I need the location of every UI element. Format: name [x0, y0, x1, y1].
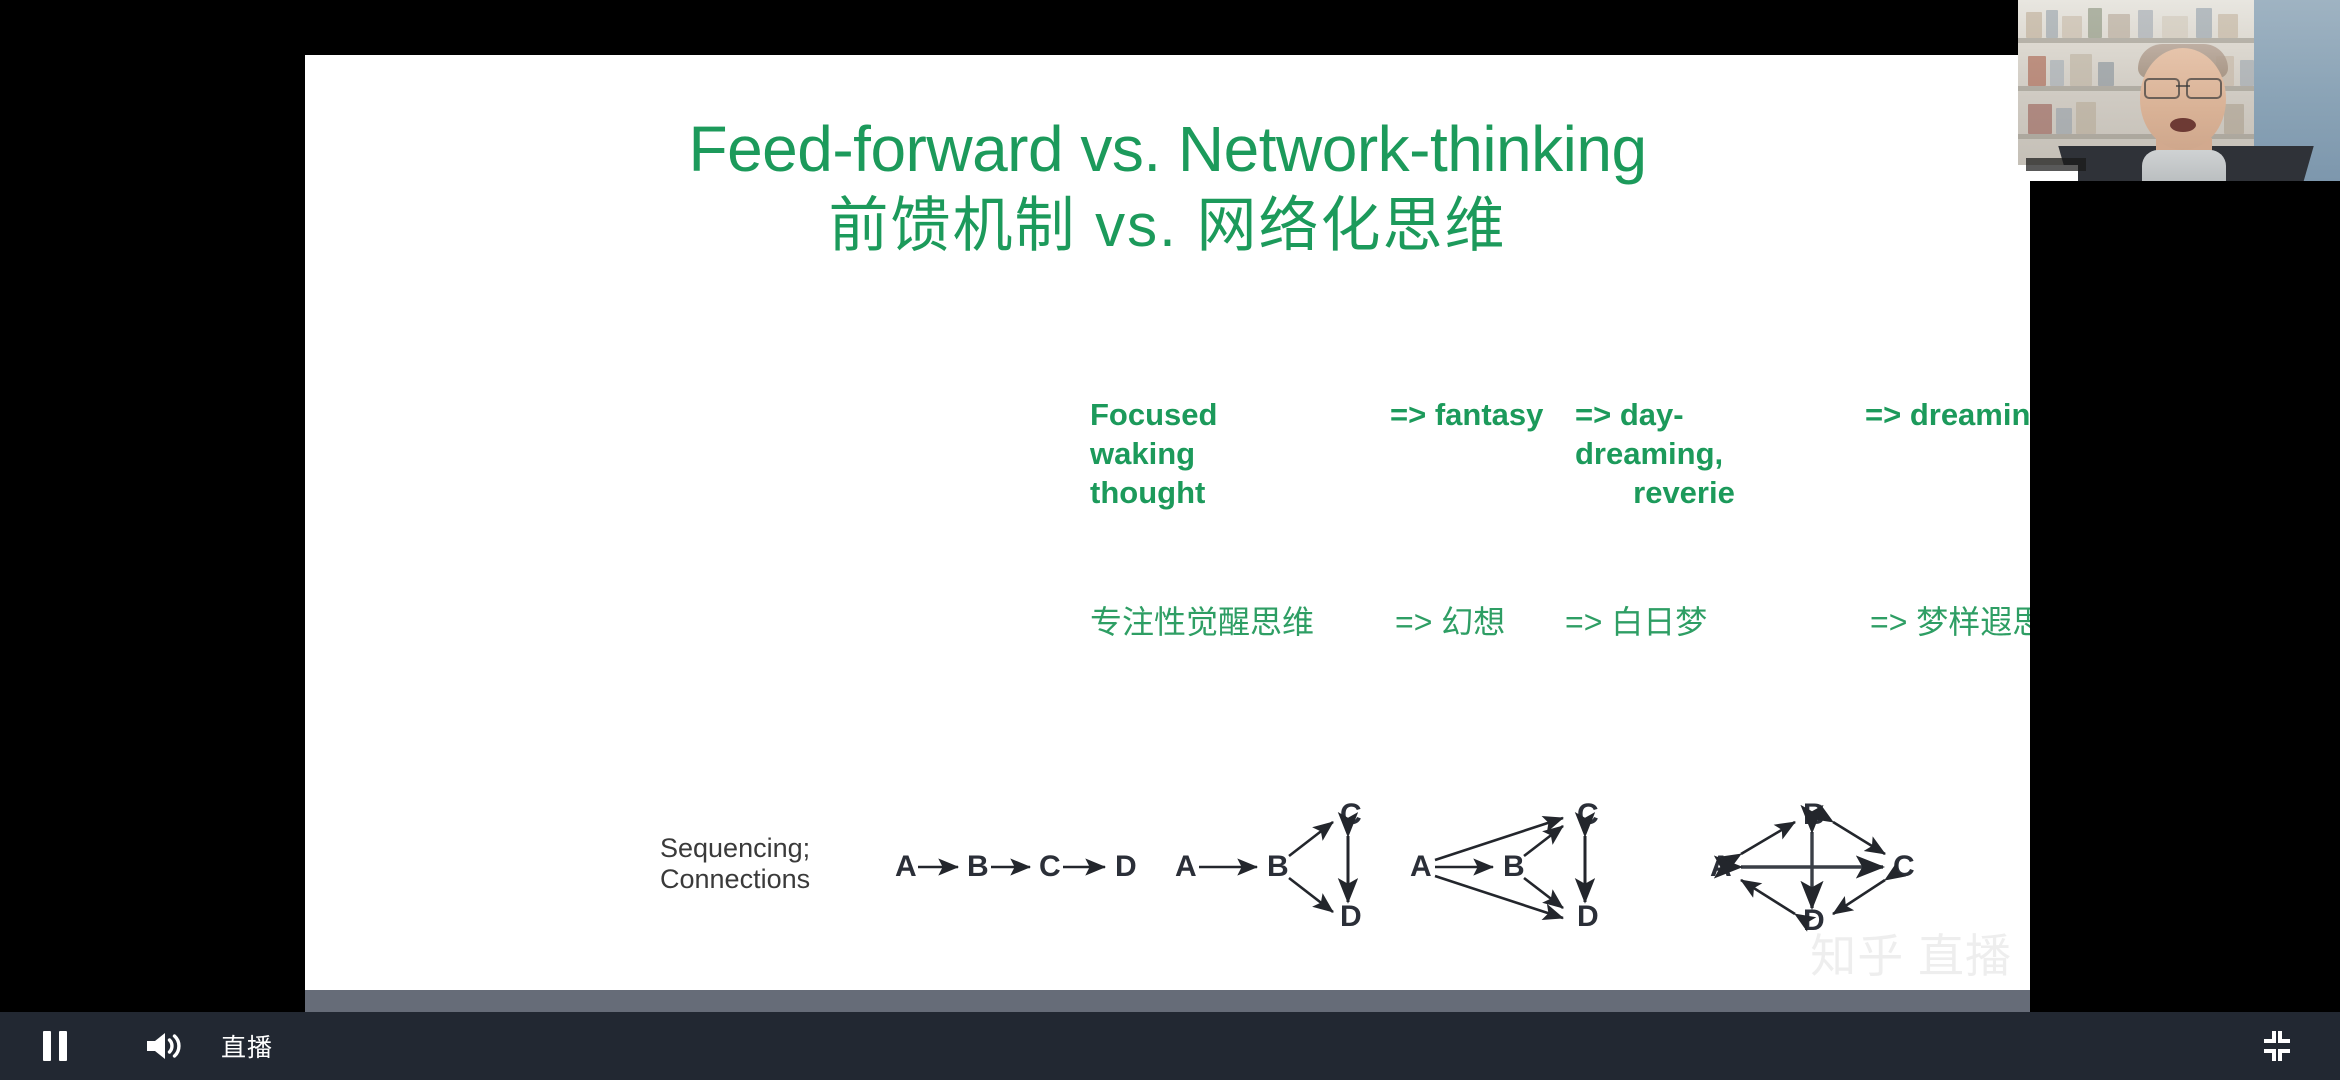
english-stage-3-line1: => day-dreaming,	[1575, 397, 1723, 471]
diagram-panel-branching: A B C D	[1175, 800, 1362, 933]
english-stage-3: => day-dreaming, reverie	[1575, 395, 1815, 512]
exit-fullscreen-button[interactable]	[2258, 1027, 2296, 1065]
presenter-turtleneck	[2142, 150, 2226, 181]
node-A: A	[895, 850, 917, 883]
chinese-stage-3: => 白日梦	[1565, 600, 1707, 644]
presenter-head	[2140, 48, 2226, 150]
seek-bar[interactable]	[305, 990, 2030, 1012]
node-B: B	[967, 850, 989, 883]
english-stage-2: => fantasy	[1390, 395, 1543, 434]
presentation-slide: Feed-forward vs. Network-thinking 前馈机制 v…	[305, 55, 2030, 990]
volume-button[interactable]	[141, 1025, 183, 1067]
slide-title-block: Feed-forward vs. Network-thinking 前馈机制 v…	[305, 110, 2030, 264]
node-B: B	[1503, 850, 1525, 883]
presenter-webcam-overlay[interactable]	[2018, 0, 2340, 181]
node-A: A	[1175, 850, 1197, 883]
chinese-progression-row: 专注性觉醒思维 => 幻想 => 白日梦 => 梦样遐思	[775, 600, 2025, 656]
node-C: C	[1340, 800, 1362, 831]
node-A: A	[1710, 850, 1732, 883]
live-status-label[interactable]: 直播	[221, 1028, 273, 1064]
diagram-svg: A B C D A B C D	[455, 800, 2015, 970]
node-D: D	[1115, 850, 1137, 883]
diagram-panel-partial-network: A B C D	[1410, 800, 1599, 933]
exit-fullscreen-icon	[2258, 1027, 2296, 1065]
node-A: A	[1410, 850, 1432, 883]
node-C: C	[1893, 850, 1915, 883]
slide-title-english: Feed-forward vs. Network-thinking	[305, 110, 2030, 188]
video-player-stage: Feed-forward vs. Network-thinking 前馈机制 v…	[0, 0, 2340, 1080]
network-diagram-figure: Sequencing; Connections A B C	[455, 800, 2015, 970]
chinese-stage-2: => 幻想	[1395, 600, 1505, 644]
presenter-glasses	[2144, 78, 2222, 95]
node-B: B	[1267, 850, 1289, 883]
chinese-stage-1: 专注性觉醒思维	[1090, 600, 1314, 644]
english-stage-3-line2: reverie	[1575, 473, 1793, 512]
english-stage-4: => dreaming	[1865, 395, 2030, 434]
webcam-name-bar	[2026, 158, 2086, 171]
pause-icon-bar-2	[59, 1031, 67, 1061]
node-C: C	[1039, 850, 1061, 883]
node-D: D	[1340, 900, 1362, 933]
player-controls-bar: 直播	[0, 1012, 2340, 1080]
node-D: D	[1803, 904, 1825, 937]
node-B: B	[1803, 800, 1825, 831]
presenter-mouth	[2170, 118, 2196, 132]
diagram-panel-full-network: A B C D	[1710, 800, 1915, 937]
slide-title-chinese: 前馈机制 vs. 网络化思维	[305, 188, 2030, 264]
seek-bar-progress	[305, 990, 2030, 1012]
chinese-stage-4: => 梦样遐思	[1870, 600, 2030, 644]
diagram-panel-linear-chain: A B C D	[895, 850, 1137, 883]
english-progression-row: Focused waking thought => fantasy => day…	[775, 395, 2025, 525]
english-stage-1: Focused waking thought	[1090, 395, 1290, 512]
volume-on-icon	[141, 1025, 183, 1067]
node-C: C	[1577, 800, 1599, 831]
node-D: D	[1577, 900, 1599, 933]
pause-icon	[43, 1031, 51, 1061]
pause-button[interactable]	[33, 1024, 77, 1068]
